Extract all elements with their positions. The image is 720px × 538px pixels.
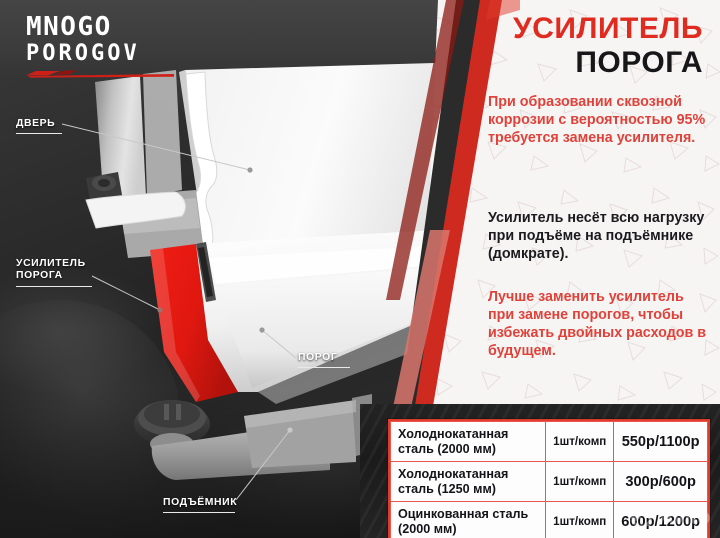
- advertisement-banner: ДВЕРЬ УСИЛИТЕЛЬ ПОРОГА ПОРОГ ПОДЪЁМНИК M…: [0, 0, 720, 538]
- price-table-body: Холоднокатанная сталь (2000 мм) 1шт/комп…: [391, 422, 708, 538]
- table-row: Оцинкованная сталь (2000 мм) 1шт/комп 60…: [391, 502, 708, 538]
- row-material: Оцинкованная сталь (2000 мм): [391, 502, 546, 538]
- row-price: 600р/1200р: [614, 502, 708, 538]
- info-paragraph-3: Лучше заменить усилитель при замене поро…: [488, 289, 712, 361]
- callout-reinforcement-rule: [16, 286, 92, 287]
- logo-line-porogov: POROGOV: [26, 43, 196, 65]
- price-table: Холоднокатанная сталь (2000 мм) 1шт/комп…: [388, 419, 710, 538]
- table-row: Холоднокатанная сталь (2000 мм) 1шт/комп…: [391, 422, 708, 462]
- row-price: 550р/1100р: [614, 422, 708, 462]
- callout-sill-rule: [298, 367, 350, 368]
- row-quantity: 1шт/комп: [546, 502, 614, 538]
- row-quantity: 1шт/комп: [546, 422, 614, 462]
- callout-sill-label: ПОРОГ: [298, 352, 337, 363]
- brand-logo[interactable]: MNOGO POROGOV: [26, 14, 196, 76]
- callout-reinforcement-label: УСИЛИТЕЛЬ ПОРОГА: [16, 258, 86, 281]
- info-paragraph-1: При образовании сквозной коррозии с веро…: [488, 94, 712, 148]
- info-paragraph-2: Усилитель несёт всю нагрузку при подъёме…: [488, 210, 712, 264]
- row-material: Холоднокатанная сталь (1250 мм): [391, 462, 546, 502]
- callout-sill: ПОРОГ: [298, 352, 350, 368]
- logo-line-mnogo: MNOGO: [26, 14, 196, 40]
- callout-door-label: ДВЕРЬ: [16, 118, 55, 129]
- row-price: 300р/600р: [614, 462, 708, 502]
- callout-door: ДВЕРЬ: [16, 118, 62, 134]
- logo-underline-accent: [26, 70, 174, 78]
- callout-jack-label: ПОДЪЁМНИК: [163, 497, 237, 508]
- callout-jack-rule: [163, 512, 235, 513]
- row-quantity: 1шт/комп: [546, 462, 614, 502]
- callout-reinforcement: УСИЛИТЕЛЬ ПОРОГА: [16, 258, 92, 287]
- callout-door-rule: [16, 133, 62, 134]
- row-material: Холоднокатанная сталь (2000 мм): [391, 422, 546, 462]
- table-row: Холоднокатанная сталь (1250 мм) 1шт/комп…: [391, 462, 708, 502]
- callout-jack: ПОДЪЁМНИК: [163, 497, 235, 513]
